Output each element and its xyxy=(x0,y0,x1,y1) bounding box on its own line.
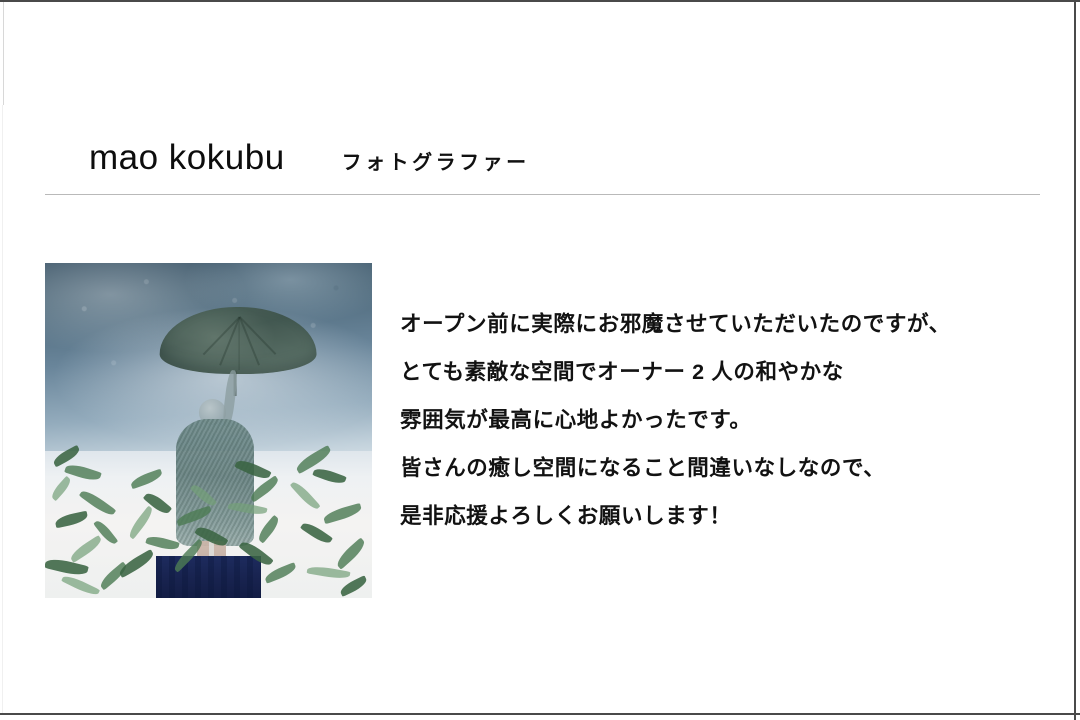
header-divider xyxy=(45,194,1040,195)
profile-header: mao kokubu フォトグラファー xyxy=(45,140,1040,175)
body-line: 是非応援よろしくお願いします！ xyxy=(400,492,1060,540)
photo-umbrella xyxy=(160,307,317,374)
frame-left-border-stub xyxy=(3,2,4,105)
page-title: mao kokubu xyxy=(89,140,285,175)
frame-bottom-border xyxy=(0,713,1080,715)
page-root: mao kokubu フォトグラファー xyxy=(0,0,1080,720)
frame-top-border xyxy=(0,0,1080,2)
body-line: オープン前に実際にお邪魔させていただいたのですが、 xyxy=(400,300,1060,348)
profile-photo xyxy=(45,263,372,598)
umbrella-rib xyxy=(238,317,240,369)
body-line: 雰囲気が最高に心地よかったです。 xyxy=(400,396,1060,444)
frame-right-border xyxy=(1074,0,1076,720)
photo-artwork xyxy=(45,263,372,598)
body-line: とても素敵な空間でオーナー 2 人の和やかな xyxy=(400,348,1060,396)
figure-body xyxy=(176,419,254,546)
role-label: フォトグラファー xyxy=(342,146,530,175)
photo-navy-band xyxy=(156,556,261,598)
body-copy: オープン前に実際にお邪魔させていただいたのですが、 とても素敵な空間でオーナー … xyxy=(400,300,1060,540)
frame-left-border-faint xyxy=(2,105,3,713)
body-line: 皆さんの癒し空間になること間違いなしなので、 xyxy=(400,444,1060,492)
